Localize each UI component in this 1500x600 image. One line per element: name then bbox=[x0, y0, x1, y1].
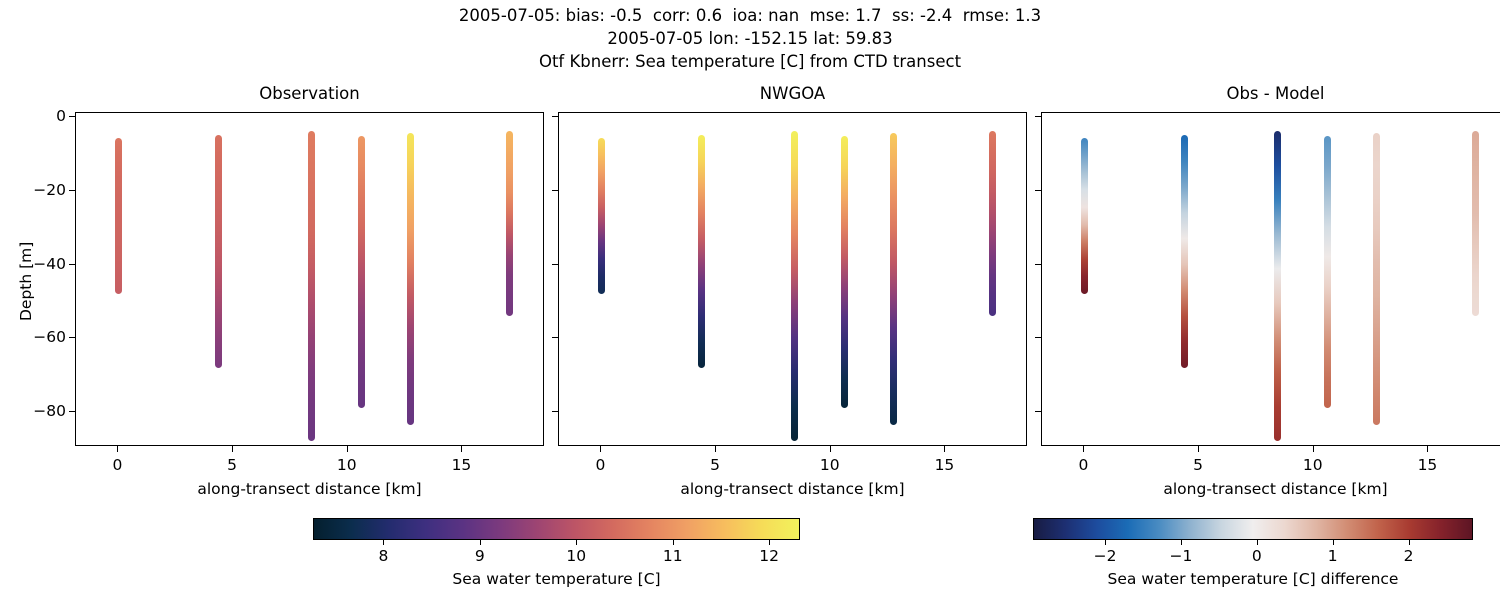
y-tick bbox=[1035, 337, 1041, 338]
colorbar-tick-label: 10 bbox=[566, 547, 586, 565]
panel-title-nwgoa: NWGOA bbox=[558, 84, 1027, 103]
plot-area-nwgoa bbox=[558, 112, 1027, 446]
colorbar-tick-label: −2 bbox=[1094, 547, 1117, 565]
colorbar-tick bbox=[576, 540, 577, 545]
y-tick-label: −20 bbox=[33, 181, 66, 199]
y-tick bbox=[552, 264, 558, 265]
colorbar-tick bbox=[1257, 540, 1258, 545]
y-tick-label: 0 bbox=[56, 107, 66, 125]
y-tick-label: −80 bbox=[33, 402, 66, 420]
panel-title-difference: Obs - Model bbox=[1041, 84, 1500, 103]
colorbar-tick-label: 0 bbox=[1252, 547, 1262, 565]
cast-profile bbox=[215, 135, 222, 368]
colorbar-tick bbox=[383, 540, 384, 545]
cast-profile bbox=[1181, 135, 1188, 368]
y-tick bbox=[552, 190, 558, 191]
suptitle-line-1: 2005-07-05: bias: -0.5 corr: 0.6 ioa: na… bbox=[0, 4, 1500, 27]
colorbar-tick-label: 2 bbox=[1404, 547, 1414, 565]
panel-observation: Observation0−20−40−60−80051015along-tran… bbox=[75, 112, 544, 446]
cast-profile bbox=[1472, 131, 1479, 316]
x-tick-label: 5 bbox=[710, 456, 720, 474]
colorbar-tick bbox=[480, 540, 481, 545]
x-tick bbox=[1198, 446, 1199, 452]
colorbar-label-difference: Sea water temperature [C] difference bbox=[1033, 570, 1473, 588]
panel-difference: Obs - Model051015along-transect distance… bbox=[1041, 112, 1500, 446]
colorbar-gradient-difference bbox=[1033, 518, 1473, 540]
y-tick bbox=[69, 411, 75, 412]
x-tick-label: 0 bbox=[595, 456, 605, 474]
x-tick bbox=[830, 446, 831, 452]
figure: 2005-07-05: bias: -0.5 corr: 0.6 ioa: na… bbox=[0, 0, 1500, 600]
colorbar-gradient-temperature bbox=[313, 518, 800, 540]
y-tick-label: −60 bbox=[33, 328, 66, 346]
y-tick bbox=[69, 337, 75, 338]
y-tick bbox=[69, 116, 75, 117]
x-tick-label: 0 bbox=[112, 456, 122, 474]
x-tick-label: 10 bbox=[337, 456, 357, 474]
cast-profile bbox=[698, 135, 705, 368]
cast-profile bbox=[358, 136, 365, 409]
y-tick-label: −40 bbox=[33, 255, 66, 273]
colorbar-tick bbox=[673, 540, 674, 545]
x-tick bbox=[1427, 446, 1428, 452]
cast-profile bbox=[115, 138, 122, 295]
x-tick bbox=[461, 446, 462, 452]
x-tick bbox=[600, 446, 601, 452]
x-axis-label: along-transect distance [km] bbox=[558, 480, 1027, 498]
y-tick bbox=[1035, 411, 1041, 412]
plot-area-observation bbox=[75, 112, 544, 446]
colorbar-tick bbox=[1181, 540, 1182, 545]
cast-profile bbox=[1373, 133, 1380, 425]
x-axis-label: along-transect distance [km] bbox=[75, 480, 544, 498]
x-tick bbox=[944, 446, 945, 452]
x-tick-label: 5 bbox=[1193, 456, 1203, 474]
cast-profile bbox=[841, 136, 848, 409]
panel-title-observation: Observation bbox=[75, 84, 544, 103]
y-tick bbox=[552, 116, 558, 117]
y-tick bbox=[1035, 264, 1041, 265]
x-tick-label: 10 bbox=[1303, 456, 1323, 474]
figure-suptitle: 2005-07-05: bias: -0.5 corr: 0.6 ioa: na… bbox=[0, 4, 1500, 73]
x-axis-label: along-transect distance [km] bbox=[1041, 480, 1500, 498]
cast-profile bbox=[890, 133, 897, 425]
y-tick bbox=[69, 264, 75, 265]
colorbar-tick bbox=[1105, 540, 1106, 545]
colorbar-tick-label: 12 bbox=[759, 547, 779, 565]
x-tick bbox=[347, 446, 348, 452]
colorbar-tick-label: 9 bbox=[475, 547, 485, 565]
y-tick bbox=[69, 190, 75, 191]
cast-profile bbox=[598, 138, 605, 295]
x-tick bbox=[1313, 446, 1314, 452]
x-tick-label: 15 bbox=[935, 456, 955, 474]
cast-profile bbox=[407, 133, 414, 425]
colorbar-tick bbox=[1409, 540, 1410, 545]
cast-profile bbox=[1324, 136, 1331, 409]
colorbar-tick-label: 1 bbox=[1328, 547, 1338, 565]
plot-area-difference bbox=[1041, 112, 1500, 446]
colorbar-tick bbox=[1333, 540, 1334, 545]
suptitle-line-3: Otf Kbnerr: Sea temperature [C] from CTD… bbox=[0, 50, 1500, 73]
x-tick-label: 15 bbox=[1418, 456, 1438, 474]
y-tick bbox=[552, 411, 558, 412]
x-tick-label: 0 bbox=[1078, 456, 1088, 474]
colorbar-tick-label: 11 bbox=[663, 547, 683, 565]
colorbar-label-temperature: Sea water temperature [C] bbox=[313, 570, 800, 588]
cast-profile bbox=[308, 131, 315, 441]
colorbar-tick-label: −1 bbox=[1169, 547, 1192, 565]
y-axis-label: Depth [m] bbox=[17, 242, 35, 321]
x-tick-label: 10 bbox=[820, 456, 840, 474]
x-tick-label: 15 bbox=[452, 456, 472, 474]
cast-profile bbox=[989, 131, 996, 316]
x-tick bbox=[715, 446, 716, 452]
suptitle-line-2: 2005-07-05 lon: -152.15 lat: 59.83 bbox=[0, 27, 1500, 50]
panel-nwgoa: NWGOA051015along-transect distance [km] bbox=[558, 112, 1027, 446]
x-tick bbox=[232, 446, 233, 452]
cast-profile bbox=[506, 131, 513, 316]
x-tick-label: 5 bbox=[227, 456, 237, 474]
cast-profile bbox=[1081, 138, 1088, 295]
y-tick bbox=[1035, 190, 1041, 191]
colorbar-tick-label: 8 bbox=[378, 547, 388, 565]
cast-profile bbox=[791, 131, 798, 441]
colorbar-tick bbox=[769, 540, 770, 545]
y-tick bbox=[552, 337, 558, 338]
cast-profile bbox=[1274, 131, 1281, 441]
y-tick bbox=[1035, 116, 1041, 117]
x-tick bbox=[117, 446, 118, 452]
x-tick bbox=[1083, 446, 1084, 452]
